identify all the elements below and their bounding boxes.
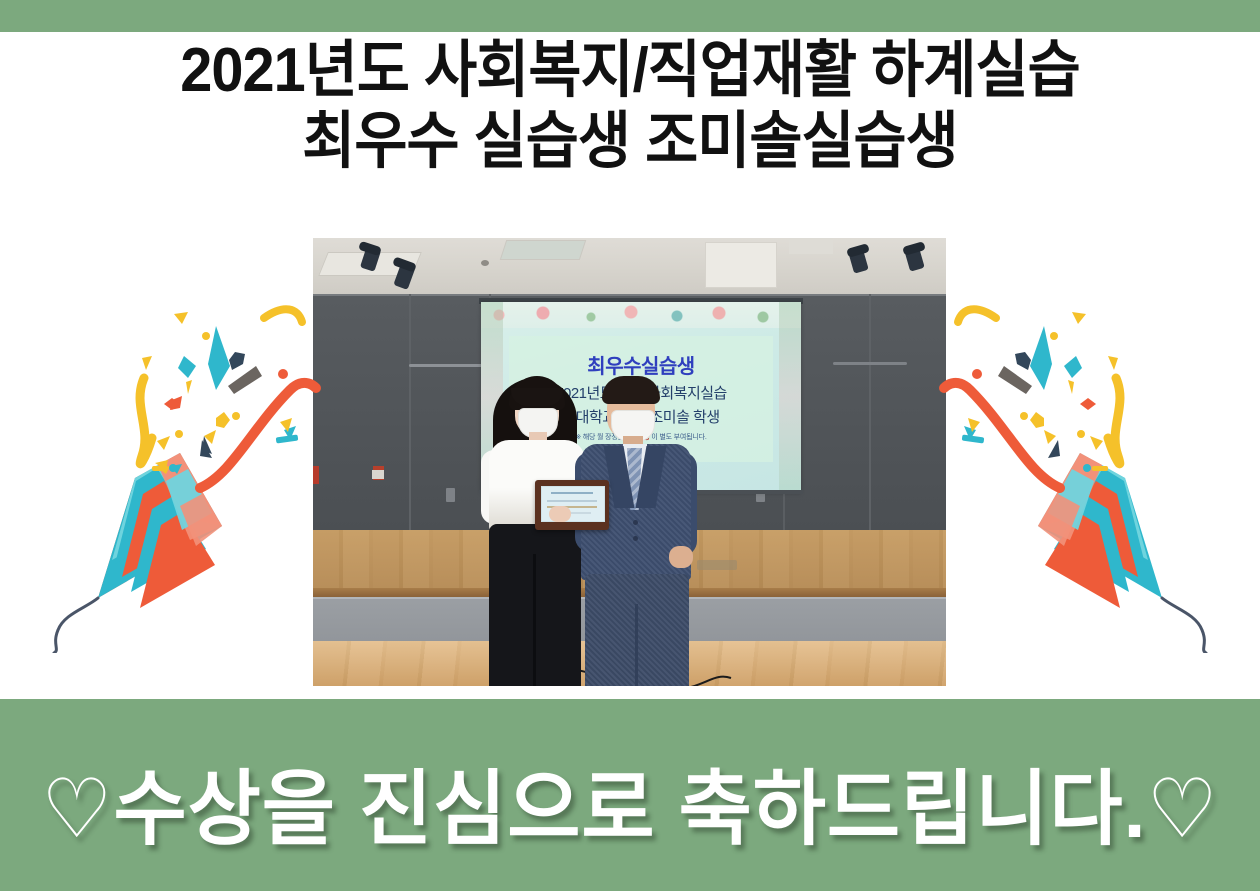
- presenter-jacket-button: [633, 536, 638, 541]
- slide-title: 최우수실습생: [509, 350, 773, 379]
- presenter-trousers-seam: [635, 604, 638, 686]
- footnote-suffix: 이 별도 부여됩니다.: [651, 434, 706, 441]
- ceiling-light-panel: [705, 242, 777, 288]
- wall-rail: [833, 362, 907, 365]
- party-popper-left-icon: [40, 278, 330, 653]
- presenter-jacket-button: [633, 520, 638, 525]
- wall-seam: [409, 294, 411, 530]
- floral-border-right: [779, 302, 801, 492]
- student-hand: [549, 506, 571, 522]
- plaque-text-line: [547, 500, 597, 502]
- exit-sign-face: [372, 470, 384, 479]
- congratulation-message: ♡수상을 진심으로 축하드립니다.♡: [19, 742, 1241, 861]
- student-trousers-seam: [533, 554, 536, 686]
- headline-line-2: 최우수 실습생 조미솔실습생: [44, 109, 1216, 176]
- top-green-band: [0, 0, 1260, 32]
- award-ceremony-photo: 최우수실습생 2021년도 하계 사회복지실습 자대학교 학과 조미솔 학생 ※…: [313, 238, 946, 686]
- headline-line-1: 2021년도 사회복지/직업재활 하계실습: [44, 38, 1216, 105]
- floral-border-top: [481, 302, 801, 328]
- wall-seam: [313, 294, 946, 296]
- student-fringe: [511, 388, 563, 406]
- ceiling-panel: [500, 240, 586, 260]
- presenter-hand: [669, 546, 693, 568]
- wall-outlet: [446, 488, 455, 502]
- page-title: 2021년도 사회복지/직업재활 하계실습 최우수 실습생 조미솔실습생: [44, 38, 1216, 176]
- floor-vent: [697, 560, 737, 570]
- wall-seam: [869, 294, 871, 530]
- presenter-hair: [602, 376, 660, 404]
- party-popper-right-icon: [930, 278, 1220, 653]
- smoke-detector-icon: [481, 260, 489, 266]
- ceiling-panel: [789, 238, 833, 254]
- celebration-card: 2021년도 사회복지/직업재활 하계실습 최우수 실습생 조미솔실습생 ♡수상…: [0, 0, 1260, 891]
- plaque-text-line: [551, 492, 593, 494]
